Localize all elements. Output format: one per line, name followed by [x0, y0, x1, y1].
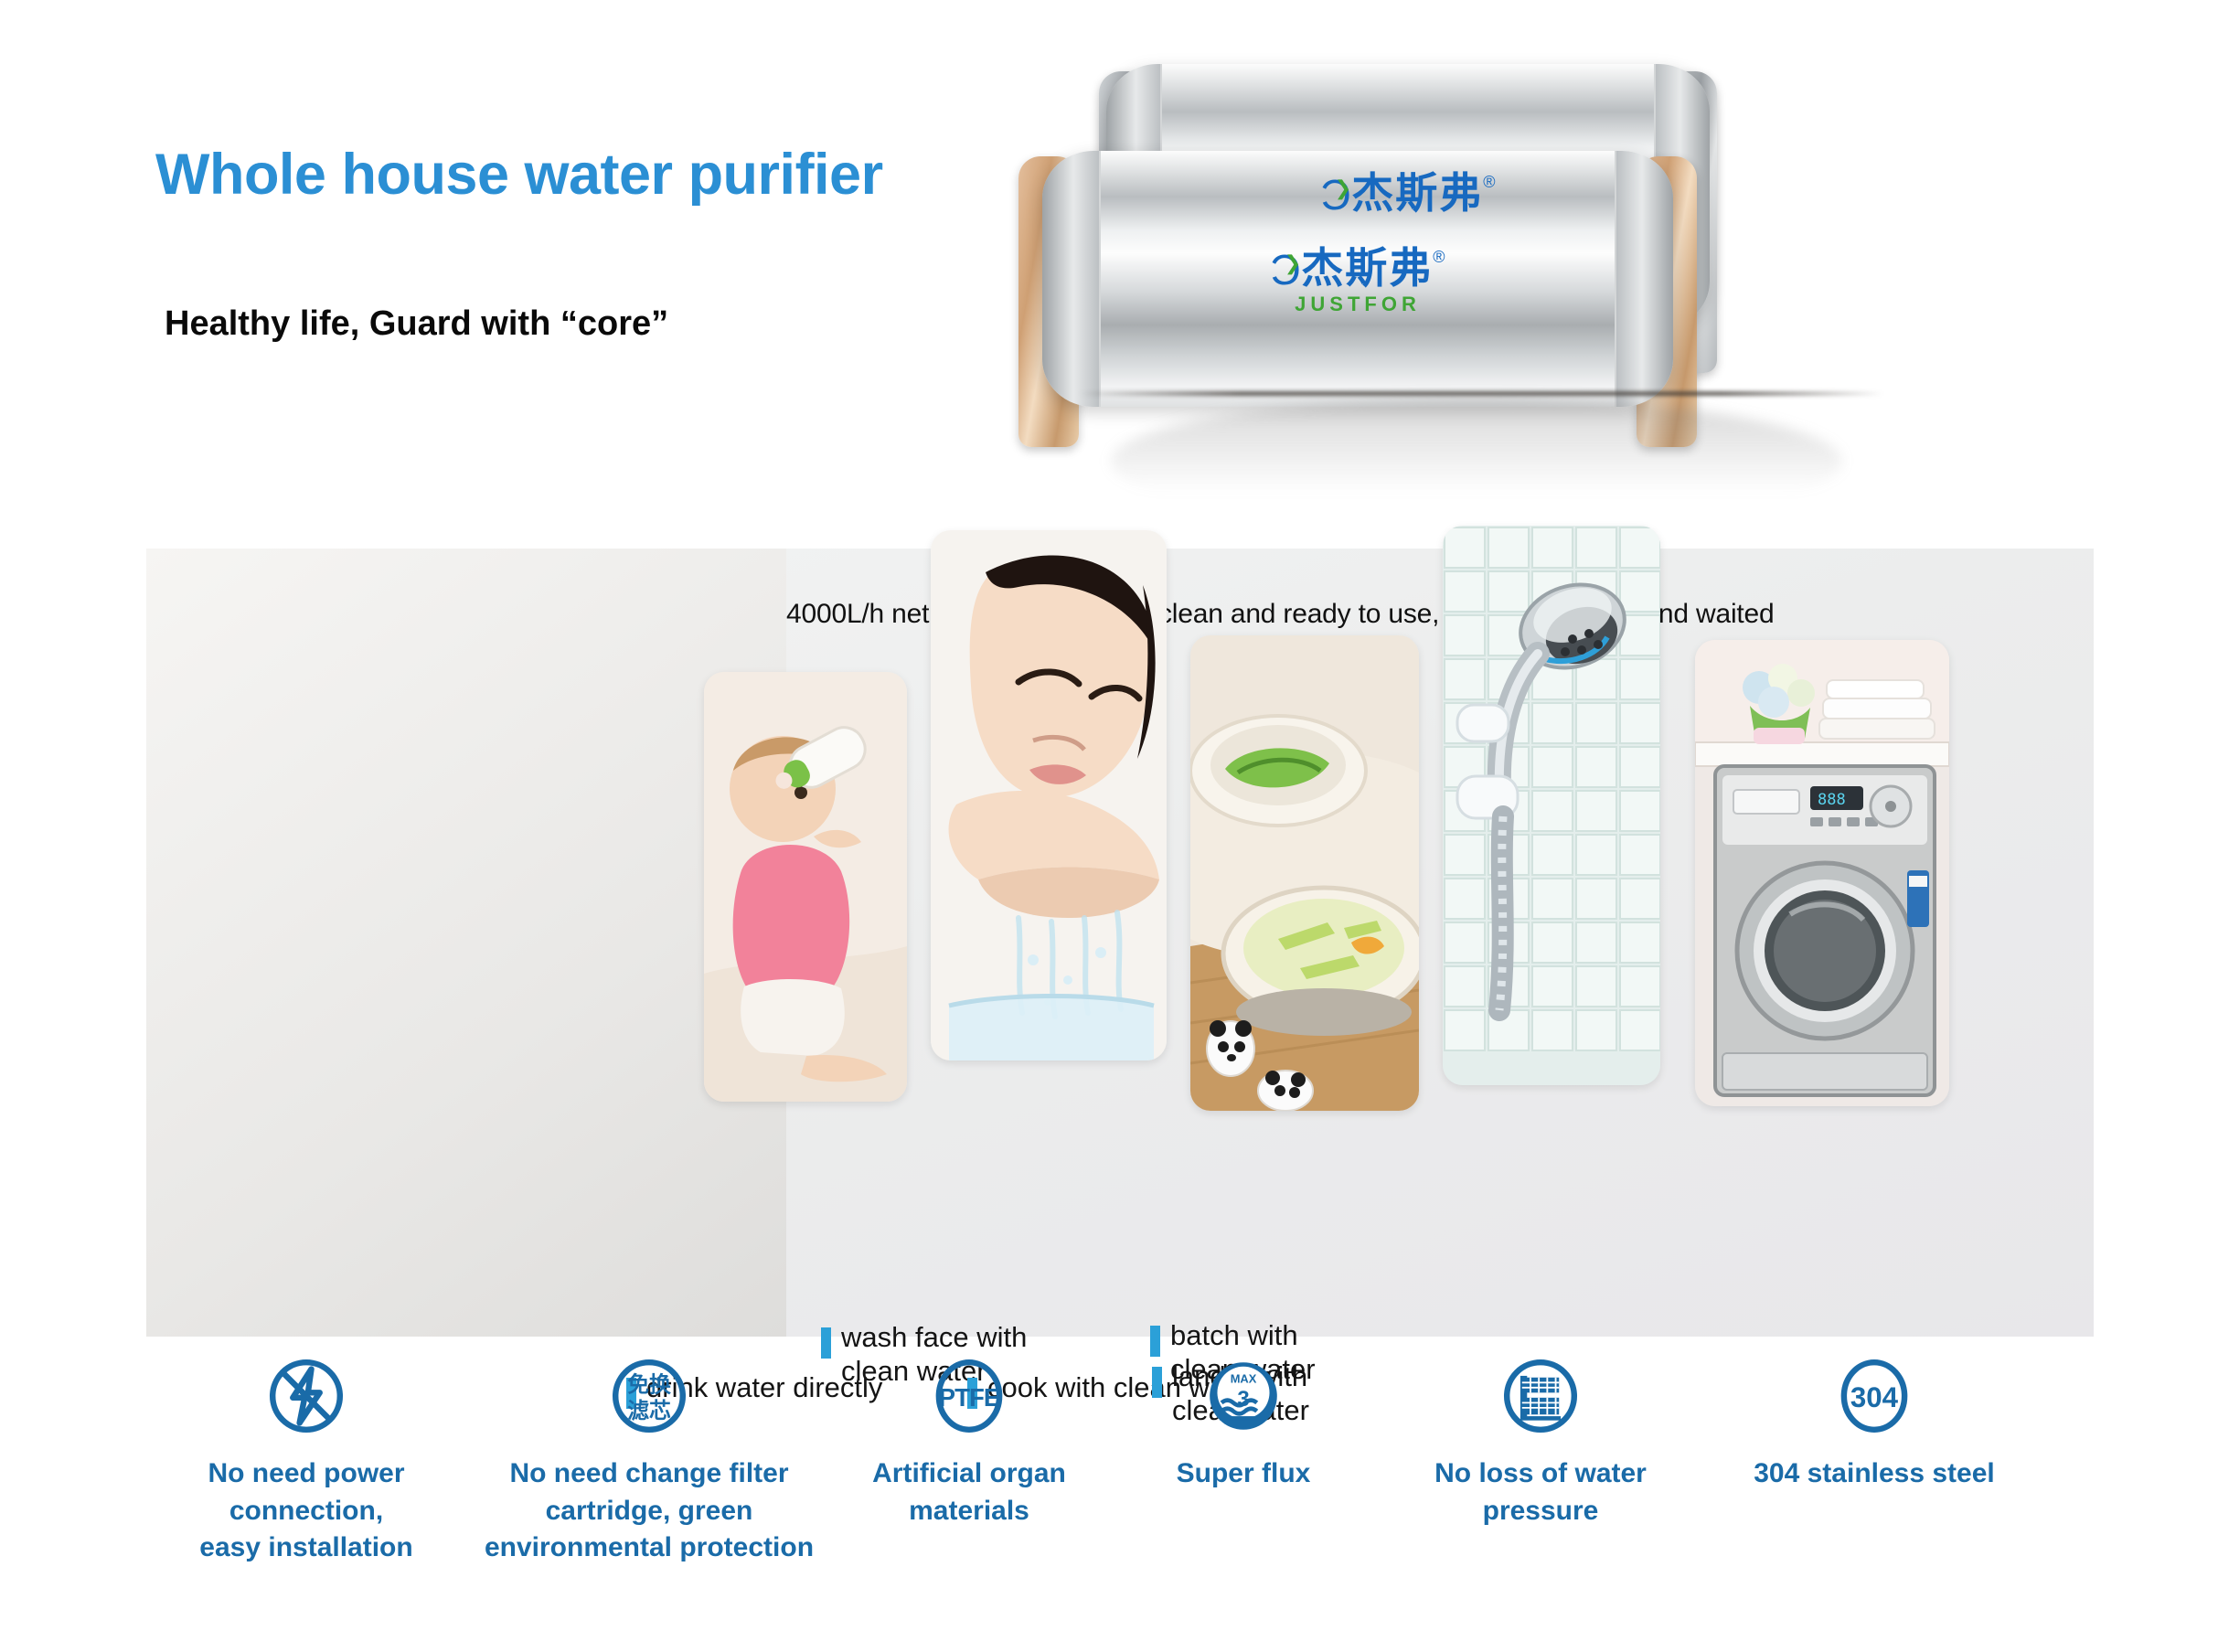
folded-towels — [1819, 680, 1935, 739]
svg-text:滤芯: 滤芯 — [627, 1398, 671, 1423]
page-subtitle: Healthy life, Guard with “core” — [155, 204, 1070, 344]
brand-name-cn: 杰斯弗 — [1351, 168, 1483, 218]
photo-soup-bowls-cooking — [1190, 635, 1419, 1111]
usecase-panel: 4000L/h net water flow, that is, clean a… — [146, 549, 2094, 1337]
brand-name-cn: 杰斯弗 — [1301, 243, 1433, 293]
feature-label: Artificial organ materials — [872, 1455, 1066, 1529]
svg-text:304: 304 — [1850, 1381, 1899, 1413]
no-filter-change-icon: 免换 滤芯 — [607, 1353, 691, 1439]
baby-illustration — [704, 672, 907, 1102]
product-logo-front: Ɔ❯杰斯弗® JUSTFOR — [1042, 247, 1673, 314]
photo-woman-washing-face — [931, 530, 1167, 1060]
svg-text:PTFE: PTFE — [939, 1383, 1000, 1412]
headline-block: Whole house water purifier Healthy life,… — [155, 146, 1070, 344]
photo-woman-drinking-water — [146, 549, 786, 1337]
svg-text:888: 888 — [1818, 791, 1846, 809]
feature-list: No need power connection, easy installat… — [146, 1353, 2094, 1627]
feature-no-loss-of-water-pressure: No loss of water pressure — [1381, 1353, 1701, 1529]
page-title: Whole house water purifier — [155, 146, 1070, 204]
svg-text:免换: 免换 — [627, 1371, 671, 1397]
brand-leaf-icon: ❯ — [1285, 253, 1301, 273]
feature-label: No need change filter cartridge, green e… — [485, 1455, 814, 1567]
brand-leaf-icon: ❯ — [1335, 178, 1351, 198]
feature-artificial-organ-materials: PTFE Artificial organ materials — [832, 1353, 1106, 1529]
brand-name-en: JUSTFOR — [1042, 294, 1673, 314]
feature-label: No loss of water pressure — [1434, 1455, 1647, 1529]
no-power-icon — [264, 1353, 348, 1439]
feature-label: No need power connection, easy installat… — [199, 1455, 412, 1567]
photo-baby-drinking-bottle — [704, 672, 907, 1102]
panda-figurine — [1207, 1020, 1254, 1076]
product-floor-line — [1079, 391, 1883, 396]
caption-accent-bar — [1150, 1326, 1160, 1357]
laundry-illustration: 888 — [1695, 640, 1949, 1106]
feature-no-filter-change: 免换 滤芯 No need change filter cartridge, g… — [466, 1353, 832, 1567]
feature-label: 304 stainless steel — [1754, 1455, 1995, 1493]
photo-washing-machine-laundry: 888 — [1695, 640, 1949, 1106]
svg-text:MAX: MAX — [1231, 1371, 1257, 1385]
feature-304-stainless-steel: 304 304 stainless steel — [1701, 1353, 2048, 1493]
shower-illustration — [1443, 526, 1660, 1085]
feature-label: Super flux — [1177, 1455, 1311, 1493]
registered-mark-icon: ® — [1483, 173, 1495, 191]
feature-super-flux: MAX 3 Super flux — [1106, 1353, 1381, 1493]
panda-figurine — [1258, 1071, 1313, 1111]
washing-face-illustration — [931, 530, 1167, 1060]
water-pressure-icon — [1498, 1353, 1583, 1439]
registered-mark-icon: ® — [1433, 248, 1445, 266]
product-reflection — [1111, 398, 1842, 526]
soup-illustration — [1190, 635, 1419, 1111]
steel-304-icon: 304 — [1832, 1353, 1916, 1439]
feature-no-power-connection: No need power connection, easy installat… — [146, 1353, 466, 1567]
ptfe-icon: PTFE — [927, 1353, 1011, 1439]
product-logo-rear: Ɔ❯杰斯弗® — [1106, 172, 1710, 216]
super-flux-icon: MAX 3 — [1201, 1353, 1285, 1439]
photo-shower-head-bathroom — [1443, 526, 1660, 1085]
